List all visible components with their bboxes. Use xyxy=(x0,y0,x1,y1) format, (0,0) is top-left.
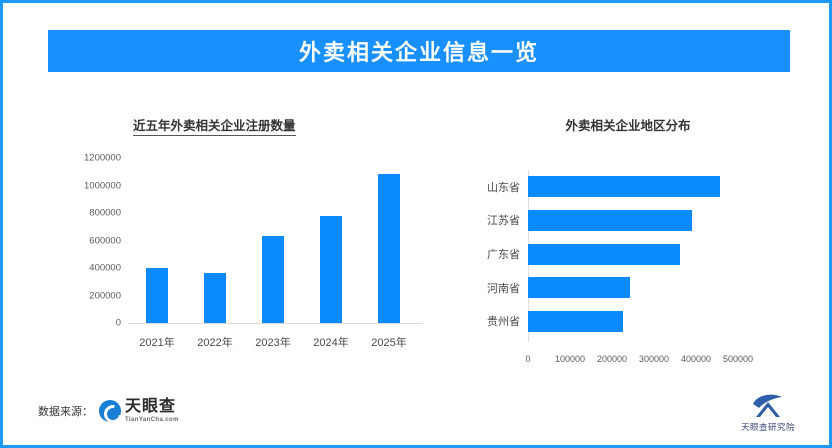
bar-2024年 xyxy=(320,216,342,323)
horizontal-bar-chart: 山东省江苏省广东省河南省贵州省0100000200000300000400000… xyxy=(463,158,793,373)
x-axis-tick-label: 100000 xyxy=(555,354,585,364)
chart-panel-regions: 外卖相关企业地区分布 山东省江苏省广东省河南省贵州省01000002000003… xyxy=(463,103,793,373)
y-axis-tick-label: 1200000 xyxy=(84,153,121,164)
institute-name: 天眼查研究院 xyxy=(741,421,795,433)
institute-brand: 天眼查研究院 xyxy=(741,393,795,433)
bar-贵州省 xyxy=(528,311,623,332)
x-axis-tick-label: 2024年 xyxy=(313,334,348,350)
x-axis-tick-label: 0 xyxy=(525,354,530,364)
y-axis-tick-label: 山东省 xyxy=(487,179,520,195)
y-axis-tick-label: 400000 xyxy=(89,263,121,274)
bar-2022年 xyxy=(204,273,226,323)
title-banner: 外卖相关企业信息一览 xyxy=(48,30,790,72)
y-axis-tick-label: 1000000 xyxy=(84,180,121,191)
y-axis-tick-label: 0 xyxy=(116,318,121,329)
tianyancha-eye-icon xyxy=(99,400,121,422)
x-axis-tick-label: 300000 xyxy=(639,354,669,364)
y-axis-tick-label: 贵州省 xyxy=(487,313,520,329)
chart-title-regions: 外卖相关企业地区分布 xyxy=(463,115,793,134)
y-axis-tick-label: 800000 xyxy=(89,208,121,219)
tianyancha-logo: 天眼查 TianYanCha.com xyxy=(99,399,179,423)
bar-row: 广东省 xyxy=(528,244,738,265)
bar-row: 贵州省 xyxy=(528,311,738,332)
x-axis-tick-label: 400000 xyxy=(681,354,711,364)
x-axis-tick-label: 2022年 xyxy=(197,334,232,350)
chart-title-registrations: 近五年外卖相关企业注册数量 xyxy=(133,115,296,136)
bar-row: 江苏省 xyxy=(528,210,738,231)
tianyancha-name-en: TianYanCha.com xyxy=(125,417,179,423)
infographic-card: 外卖相关企业信息一览 近五年外卖相关企业注册数量 020000040000060… xyxy=(0,0,832,448)
y-axis-tick-label: 200000 xyxy=(89,290,121,301)
vertical-bar-chart: 0200000400000600000800000100000012000002… xyxy=(58,158,438,373)
x-axis-tick-label: 2021年 xyxy=(139,334,174,350)
tianyancha-wordmark: 天眼查 TianYanCha.com xyxy=(125,399,179,423)
bar-广东省 xyxy=(528,244,680,265)
bar-2025年 xyxy=(378,174,400,323)
bar-2021年 xyxy=(146,268,168,323)
bar-河南省 xyxy=(528,277,630,298)
bar-2023年 xyxy=(262,236,284,323)
x-axis-tick-label: 500000 xyxy=(723,354,753,364)
data-source: 数据来源： 天眼查 TianYanCha.com xyxy=(38,399,179,423)
tianyancha-name-cn: 天眼查 xyxy=(125,399,179,415)
x-axis-tick-label: 2023年 xyxy=(255,334,290,350)
x-axis-tick-label: 2025年 xyxy=(371,334,406,350)
x-axis-line xyxy=(128,323,423,324)
bar-山东省 xyxy=(528,176,720,197)
chart-panel-registrations: 近五年外卖相关企业注册数量 02000004000006000008000001… xyxy=(58,103,438,373)
horizontal-bar-plot-area: 山东省江苏省广东省河南省贵州省0100000200000300000400000… xyxy=(528,170,738,338)
y-axis-tick-label: 江苏省 xyxy=(487,212,520,228)
bar-row: 河南省 xyxy=(528,277,738,298)
y-axis-tick-label: 河南省 xyxy=(487,280,520,296)
institute-logo-icon xyxy=(751,393,785,419)
y-axis-tick-label: 广东省 xyxy=(487,246,520,262)
vertical-bar-plot-area: 0200000400000600000800000100000012000002… xyxy=(128,158,418,323)
data-source-label: 数据来源： xyxy=(38,403,93,419)
x-axis-tick-label: 200000 xyxy=(597,354,627,364)
y-axis-tick-label: 600000 xyxy=(89,235,121,246)
bar-江苏省 xyxy=(528,210,692,231)
bar-row: 山东省 xyxy=(528,176,738,197)
page-title: 外卖相关企业信息一览 xyxy=(299,35,539,67)
